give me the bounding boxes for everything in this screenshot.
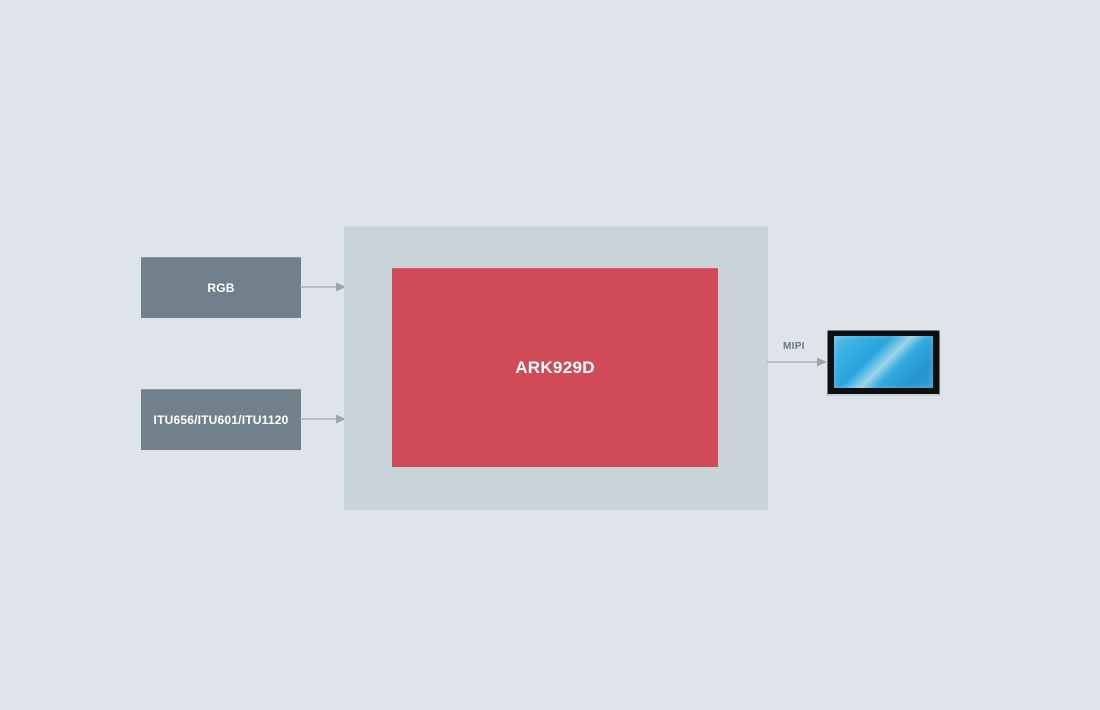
arrow-rgb-to-chip <box>300 281 346 293</box>
diagram-canvas: RGB ITU656/ITU601/ITU1120 ARK929D MIPI <box>0 0 1100 710</box>
source-block-itu-label: ITU656/ITU601/ITU1120 <box>154 413 289 427</box>
monitor-screen <box>834 336 933 388</box>
connection-label-mipi: MIPI <box>783 341 805 352</box>
source-block-rgb[interactable]: RGB <box>141 257 301 318</box>
chip-core[interactable]: ARK929D <box>392 268 718 467</box>
source-block-rgb-label: RGB <box>207 281 234 295</box>
source-block-itu[interactable]: ITU656/ITU601/ITU1120 <box>141 389 301 450</box>
arrow-itu-to-chip <box>300 413 346 425</box>
chip-core-label: ARK929D <box>515 358 595 378</box>
arrow-chip-to-display <box>767 356 827 368</box>
monitor-icon[interactable] <box>827 330 940 396</box>
